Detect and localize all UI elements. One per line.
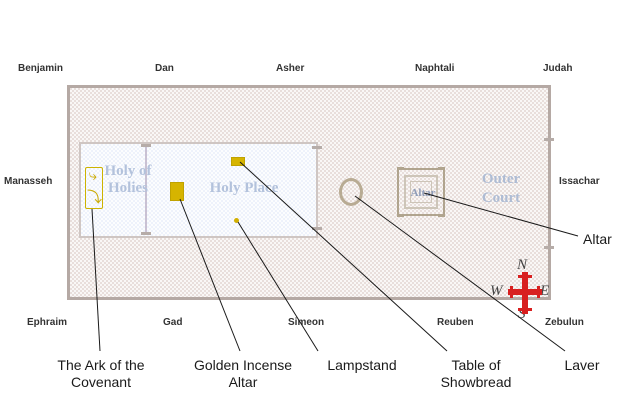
- cross-icon: [508, 272, 542, 314]
- callout-altar: Altar: [583, 231, 612, 247]
- compass-west-label: W: [490, 283, 503, 300]
- lampstand-icon: [234, 218, 239, 223]
- callout-ark-of-the-covenant: The Ark of the Covenant: [26, 357, 176, 391]
- callout-lampstand: Lampstand: [314, 357, 410, 374]
- table-of-showbread-icon: [231, 157, 245, 166]
- callout-laver: Laver: [552, 357, 612, 374]
- cherub-upper-icon: ⤷: [87, 170, 99, 182]
- golden-incense-altar-icon: [170, 182, 184, 201]
- veil-tick-top: [141, 144, 151, 147]
- altar-horn-top-left: [397, 167, 404, 170]
- outer-court-label: Outer Court: [466, 170, 536, 208]
- altar-horn-top-right: [438, 167, 445, 170]
- tribe-ephraim: Ephraim: [27, 317, 67, 328]
- altar-horn-bottom-right: [438, 214, 445, 217]
- tabernacle-diagram: Outer Court Holy of Holies Holy Place ⤷ …: [0, 0, 633, 411]
- veil-tick-bottom: [141, 232, 151, 235]
- callout-table-of-showbread: Table of Showbread: [423, 357, 529, 391]
- cherub-lower-icon: ⤵: [87, 192, 99, 204]
- compass-rose: N W E S: [486, 259, 564, 331]
- tribe-dan: Dan: [155, 63, 174, 74]
- holy-of-holies-label: Holy of Holies: [100, 163, 156, 197]
- tribe-benjamin: Benjamin: [18, 63, 63, 74]
- tribe-asher: Asher: [276, 63, 304, 74]
- tribe-gad: Gad: [163, 317, 182, 328]
- laver-icon: [339, 178, 363, 206]
- tabernacle-tick-top-right: [312, 146, 322, 149]
- tribe-simeon: Simeon: [288, 317, 324, 328]
- tribe-issachar: Issachar: [559, 176, 600, 187]
- altar-horn-bottom-left: [397, 214, 404, 217]
- court-tick-top-right: [544, 138, 554, 141]
- ark-of-the-covenant-icon: ⤷ ⤵: [85, 167, 103, 209]
- holy-place-label: Holy Place: [196, 180, 292, 197]
- callout-golden-incense-altar: Golden Incense Altar: [168, 357, 318, 391]
- court-tick-bottom-right: [544, 246, 554, 249]
- tribe-naphtali: Naphtali: [415, 63, 454, 74]
- tabernacle-tick-bottom-right: [312, 227, 322, 230]
- tribe-judah: Judah: [543, 63, 572, 74]
- tribe-manasseh: Manasseh: [4, 176, 52, 187]
- altar-inline-label: Altar: [399, 187, 447, 199]
- tribe-reuben: Reuben: [437, 317, 474, 328]
- altar-of-burnt-offering-icon: Altar: [397, 168, 445, 216]
